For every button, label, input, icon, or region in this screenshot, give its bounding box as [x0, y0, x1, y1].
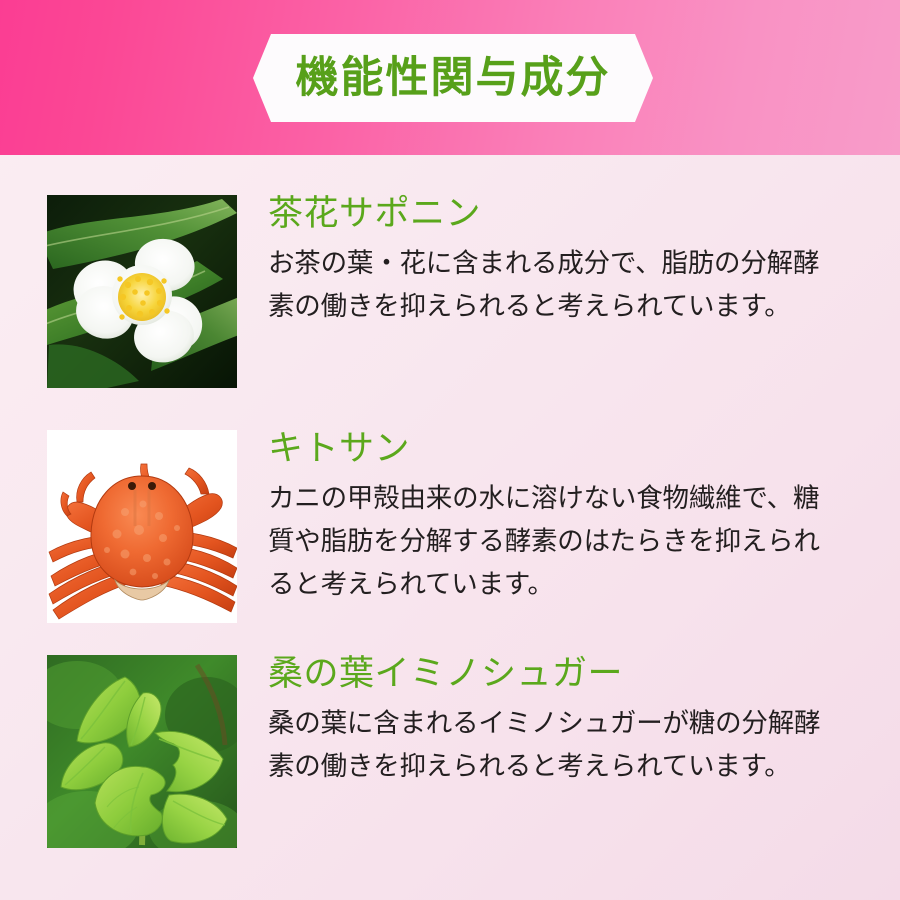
ingredient-name: キトサン: [268, 430, 868, 469]
ingredient-text-column: 茶花サポニン お茶の葉・花に含まれる成分で、脂肪の分解酵 素の働きを抑えられると…: [268, 195, 868, 328]
description-line: 質や脂肪を分解する酵素のはたらきを抑えられ: [268, 520, 878, 563]
description-line: ると考えられています。: [268, 563, 878, 606]
ingredient-name: 茶花サポニン: [268, 195, 868, 234]
mulberry-leaf-image: [47, 655, 237, 848]
crab-image: [47, 430, 237, 623]
ingredient-text-column: 桑の葉イミノシュガー 桑の葉に含まれるイミノシュガーが糖の分解酵 素の働きを抑え…: [268, 655, 868, 788]
ingredient-list: 茶花サポニン お茶の葉・花に含まれる成分で、脂肪の分解酵 素の働きを抑えられると…: [0, 155, 900, 900]
tea-flower-image: [47, 195, 237, 388]
mulberry-leaf-photo: [47, 655, 237, 848]
description-line: カニの甲殻由来の水に溶けない食物繊維で、糖: [268, 477, 878, 520]
title-banner: 機能性関与成分: [253, 34, 653, 122]
infographic-page: 機能性関与成分: [0, 0, 900, 900]
header-band: 機能性関与成分: [0, 0, 900, 155]
ingredient-description: 桑の葉に含まれるイミノシュガーが糖の分解酵 素の働きを抑えられると考えられていま…: [268, 702, 878, 788]
crab-photo: [47, 430, 237, 623]
ingredient-text-column: キトサン カニの甲殻由来の水に溶けない食物繊維で、糖 質や脂肪を分解する酵素のは…: [268, 430, 868, 606]
description-line: 素の働きを抑えられると考えられています。: [268, 285, 878, 328]
description-line: お茶の葉・花に含まれる成分で、脂肪の分解酵: [268, 242, 878, 285]
ingredient-description: お茶の葉・花に含まれる成分で、脂肪の分解酵 素の働きを抑えられると考えられていま…: [268, 242, 878, 328]
description-line: 素の働きを抑えられると考えられています。: [268, 745, 878, 788]
tea-flower-photo: [47, 195, 237, 388]
page-title: 機能性関与成分: [296, 57, 611, 100]
ingredient-name: 桑の葉イミノシュガー: [268, 655, 868, 694]
description-line: 桑の葉に含まれるイミノシュガーが糖の分解酵: [268, 702, 878, 745]
ingredient-description: カニの甲殻由来の水に溶けない食物繊維で、糖 質や脂肪を分解する酵素のはたらきを抑…: [268, 477, 878, 606]
